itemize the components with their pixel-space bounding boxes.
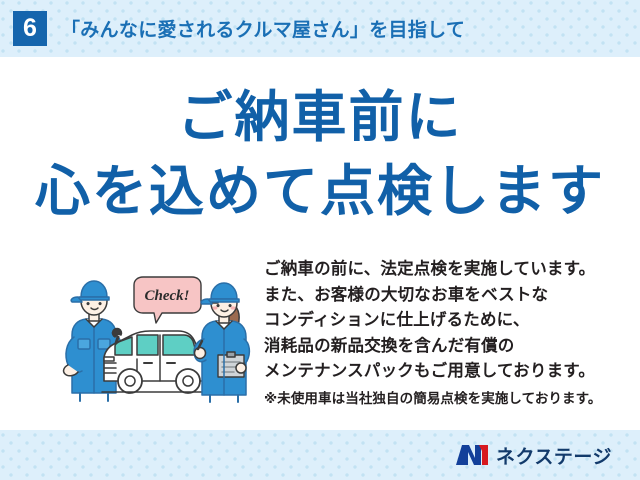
banner-header: 6 「みんなに愛されるクルマ屋さん」を目指して <box>0 0 640 57</box>
body-copy-line: また、お客様の大切なお車をベストな <box>264 283 632 309</box>
body-copy-line: コンディションに仕上げるために、 <box>264 308 632 334</box>
headline-line-2: 心を込めて点検します <box>0 164 640 219</box>
header-title: 「みんなに愛されるクルマ屋さん」を目指して <box>61 15 465 42</box>
body-copy-line: メンテナンスパックもご用意しております。 <box>264 359 632 385</box>
nextage-n-mark-icon <box>455 444 489 466</box>
brand-name: ネクステージ <box>496 442 612 469</box>
mechanic-female-figure <box>194 283 249 402</box>
content-panel: ご納車前に 心を込めて点検します ご納車の前に、法定点検を実施しています。 また… <box>0 57 640 430</box>
body-copy-line: 消耗品の新品交換を含んだ有償の <box>264 334 632 360</box>
mechanics-illustration: Check! <box>58 273 258 403</box>
nextage-logo: ネクステージ <box>455 442 612 469</box>
section-number-badge: 6 <box>13 11 47 46</box>
mechanic-male-figure <box>64 281 122 401</box>
body-copy: ご納車の前に、法定点検を実施しています。 また、お客様の大切なお車をベストな コ… <box>264 257 632 411</box>
body-copy-line: ご納車の前に、法定点検を実施しています。 <box>264 257 632 283</box>
headline-line-1: ご納車前に <box>0 90 640 145</box>
body-copy-note: ※未使用車は当社独自の簡易点検を実施しております。 <box>264 387 632 411</box>
check-bubble-label: Check! <box>145 288 190 304</box>
banner-footer: ネクステージ <box>0 430 640 480</box>
headline: ご納車前に 心を込めて点検します <box>0 90 640 219</box>
promo-banner: 6 「みんなに愛されるクルマ屋さん」を目指して ご納車前に 心を込めて点検します… <box>0 0 640 480</box>
